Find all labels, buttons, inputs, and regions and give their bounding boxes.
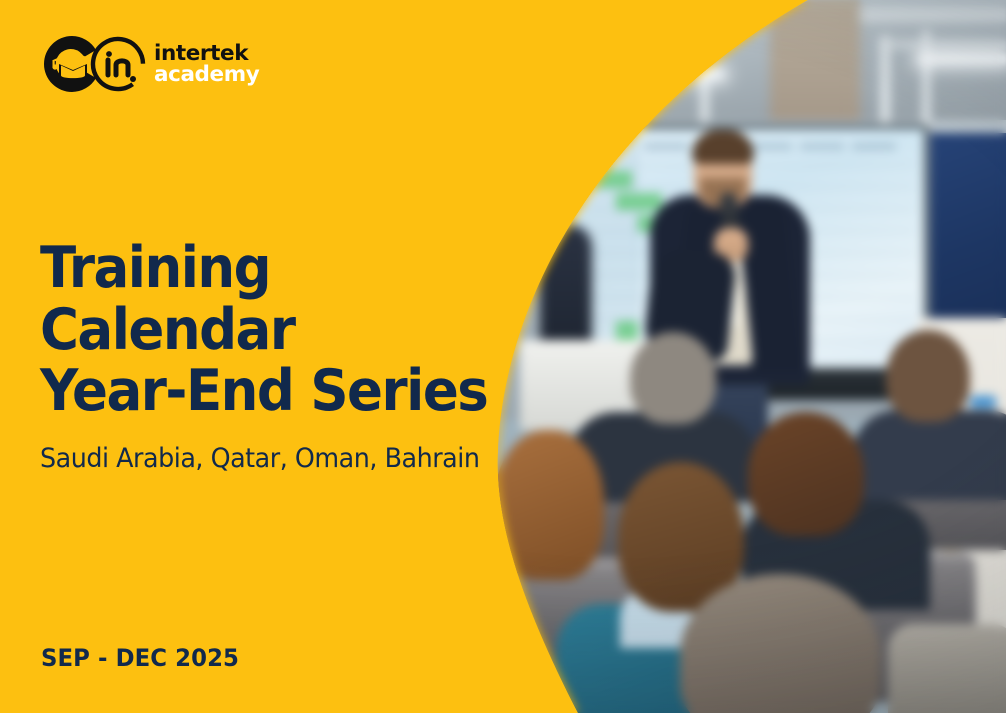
audience-head xyxy=(886,330,970,422)
screen-header-cell xyxy=(800,143,844,150)
event-banner xyxy=(930,133,1006,323)
ceiling-column xyxy=(770,0,860,135)
page-subtitle: Saudi Arabia, Qatar, Oman, Bahrain xyxy=(40,443,510,474)
cover-page: intertek academy Training Calendar Year-… xyxy=(0,0,1006,713)
ceiling-beam xyxy=(860,8,1006,22)
speaker-hair xyxy=(692,130,754,164)
screen-header-cell xyxy=(748,143,792,150)
page-title: Training Calendar Year-End Series xyxy=(40,238,505,423)
audience-head-long-hair xyxy=(748,412,864,536)
audience-head xyxy=(630,332,716,424)
ceiling-beam xyxy=(880,40,1006,49)
headline-block: Training Calendar Year-End Series Saudi … xyxy=(40,238,540,474)
audience-shoulders xyxy=(852,410,1006,500)
tube-light xyxy=(614,70,724,79)
title-line-1: Training Calendar xyxy=(40,235,295,363)
logo-wordmark: intertek academy xyxy=(154,44,259,85)
title-line-2: Year-End Series xyxy=(40,358,487,424)
logo-text-academy: academy xyxy=(154,65,259,86)
ceiling-beam xyxy=(600,22,720,32)
gantt-bar xyxy=(570,171,632,188)
screen-header-cell xyxy=(644,143,688,150)
date-range: SEP - DEC 2025 xyxy=(41,644,239,672)
brand-logo[interactable]: intertek academy xyxy=(40,34,259,94)
gantt-bar xyxy=(616,193,662,210)
tube-light xyxy=(918,54,1006,64)
screen-header-cell xyxy=(852,143,896,150)
intertek-academy-mark xyxy=(40,34,148,94)
chair-foreground xyxy=(888,624,1006,713)
